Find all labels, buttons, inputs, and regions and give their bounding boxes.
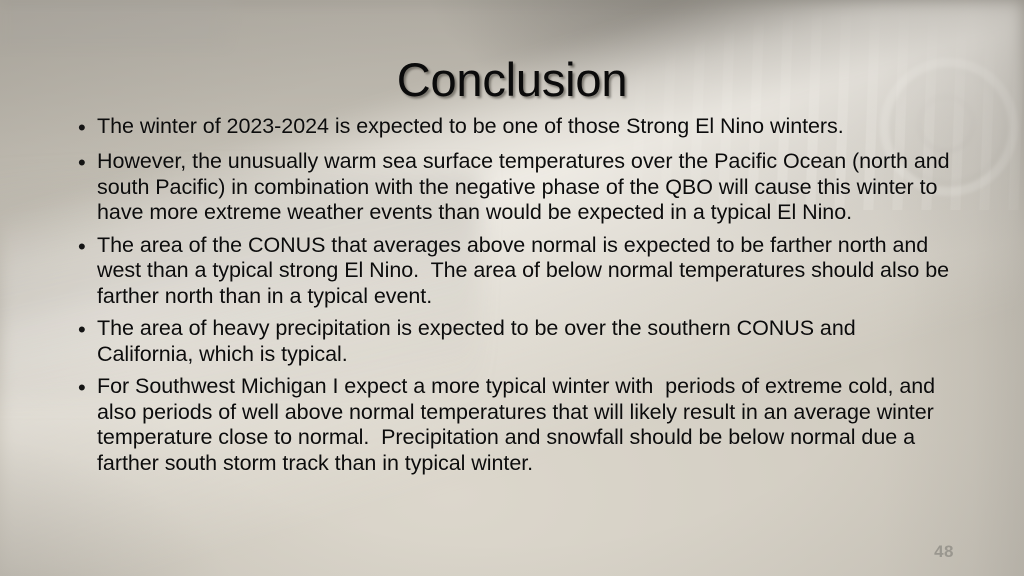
list-item-text: For Southwest Michigan I expect a more t… xyxy=(97,374,952,476)
bullet-point-icon: • xyxy=(72,233,97,261)
list-item-text: The winter of 2023-2024 is expected to b… xyxy=(97,114,952,140)
list-item: • The winter of 2023-2024 is expected to… xyxy=(72,114,952,142)
list-item-text: However, the unusually warm sea surface … xyxy=(97,149,952,226)
slide-number: 48 xyxy=(934,542,954,562)
list-item-text: The area of the CONUS that averages abov… xyxy=(97,233,952,310)
list-item: • The area of the CONUS that averages ab… xyxy=(72,233,952,310)
bullet-point-icon: • xyxy=(72,149,97,177)
bullet-point-icon: • xyxy=(72,374,97,402)
list-item: • For Southwest Michigan I expect a more… xyxy=(72,374,952,476)
page-title: Conclusion xyxy=(0,55,1024,104)
presentation-slide: Conclusion • The winter of 2023-2024 is … xyxy=(0,0,1024,576)
list-item: • However, the unusually warm sea surfac… xyxy=(72,149,952,226)
bullet-point-icon: • xyxy=(72,316,97,344)
list-item: • The area of heavy precipitation is exp… xyxy=(72,316,952,367)
bullet-list: • The winter of 2023-2024 is expected to… xyxy=(72,114,952,483)
bullet-point-icon: • xyxy=(72,114,97,142)
list-item-text: The area of heavy precipitation is expec… xyxy=(97,316,952,367)
